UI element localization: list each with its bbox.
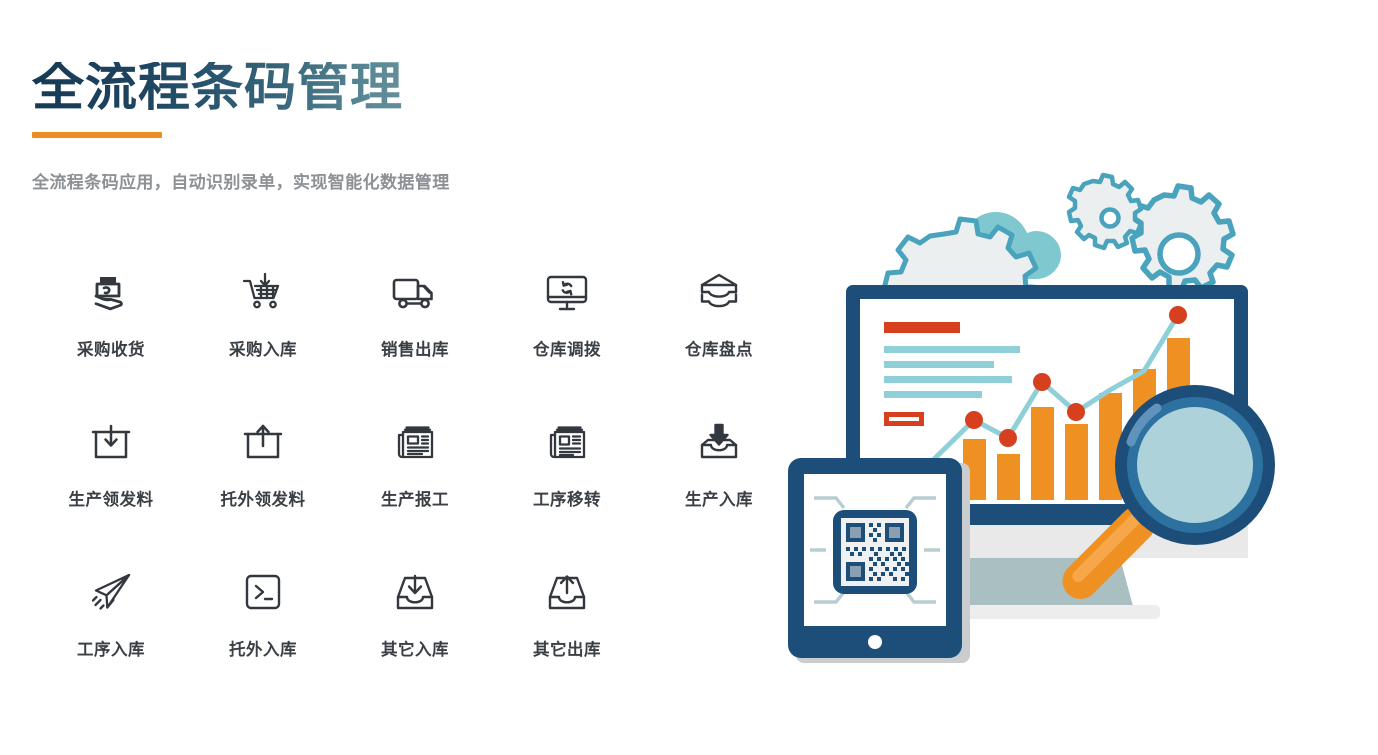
- hand-receive-box-icon: [80, 262, 142, 324]
- feature-label: 采购入库: [229, 336, 297, 360]
- title-underline-rule: [32, 132, 162, 138]
- feature-item-production-inbound[interactable]: 生产入库: [643, 412, 795, 562]
- page-subtitle: 全流程条码应用，自动识别录单，实现智能化数据管理: [32, 168, 450, 193]
- heading-block: 全流程条码管理 全流程条码应用，自动识别录单，实现智能化数据管理: [32, 62, 450, 193]
- cart-download-icon: [232, 262, 294, 324]
- gear-small-hole: [1102, 210, 1119, 227]
- feature-label: 工序入库: [77, 636, 145, 660]
- feature-label: 生产领发料: [69, 486, 154, 510]
- feature-item-process-transfer[interactable]: 工序移转: [491, 412, 643, 562]
- feature-label: 采购收货: [77, 336, 145, 360]
- page-title: 全流程条码管理: [32, 62, 450, 114]
- chart-marker: [965, 411, 983, 429]
- chart-marker: [1169, 306, 1187, 324]
- barcode-analytics-illustration: [780, 150, 1378, 680]
- feature-label: 生产报工: [381, 486, 449, 510]
- chart-bar: [1065, 424, 1088, 500]
- screen-button-label: [889, 417, 919, 421]
- newspaper-transfer-icon: [536, 412, 598, 474]
- feature-item-process-inbound[interactable]: 工序入库: [35, 562, 187, 712]
- chart-marker: [999, 429, 1017, 447]
- monitor-transfer-icon: [536, 262, 598, 324]
- feature-item-warehouse-stocktake[interactable]: 仓库盘点: [643, 262, 795, 412]
- feature-label: 其它出库: [533, 636, 601, 660]
- chart-bar: [1031, 407, 1054, 500]
- magnifier-lens: [1137, 407, 1253, 523]
- screen-text-line: [884, 376, 1012, 383]
- feature-label: 仓库盘点: [685, 336, 753, 360]
- tablet-device: [788, 458, 970, 663]
- feature-item-purchase-receipt[interactable]: 采购收货: [35, 262, 187, 412]
- feature-item-purchase-inbound[interactable]: 采购入库: [187, 262, 339, 412]
- feature-item-sales-outbound[interactable]: 销售出库: [339, 262, 491, 412]
- gear-medium-hole: [1160, 235, 1198, 273]
- feature-label: 工序移转: [533, 486, 601, 510]
- inbox-arrow-down-icon: [384, 562, 446, 624]
- feature-item-other-outbound[interactable]: 其它出库: [491, 562, 643, 712]
- chart-bar: [997, 454, 1020, 500]
- inbox-arrow-up-icon: [536, 562, 598, 624]
- stacked-trays-icon: [688, 262, 750, 324]
- feature-label: 托外入库: [229, 636, 297, 660]
- tablet-home-button: [868, 635, 882, 649]
- chart-marker: [1033, 373, 1051, 391]
- feature-label: 仓库调拨: [533, 336, 601, 360]
- feature-icon-grid: 采购收货 采购入库: [35, 262, 795, 712]
- feature-item-production-report[interactable]: 生产报工: [339, 412, 491, 562]
- feature-label: 其它入库: [381, 636, 449, 660]
- paper-plane-icon: [80, 562, 142, 624]
- feature-label: 生产入库: [685, 486, 753, 510]
- terminal-prompt-icon: [232, 562, 294, 624]
- hero-banner: 全流程条码管理 全流程条码应用，自动识别录单，实现智能化数据管理 采购收货: [0, 0, 1378, 755]
- feature-item-outsourced-issue[interactable]: 托外领发料: [187, 412, 339, 562]
- screen-header-bar: [884, 322, 960, 333]
- feature-label: 托外领发料: [221, 486, 306, 510]
- box-arrow-down-icon: [80, 412, 142, 474]
- feature-item-production-issue[interactable]: 生产领发料: [35, 412, 187, 562]
- screen-text-line: [884, 391, 982, 398]
- tray-arrow-down-icon: [688, 412, 750, 474]
- feature-item-warehouse-transfer[interactable]: 仓库调拨: [491, 262, 643, 412]
- chart-marker: [1067, 403, 1085, 421]
- feature-label: 销售出库: [381, 336, 449, 360]
- box-arrow-up-icon: [232, 412, 294, 474]
- feature-item-outsourced-inbound[interactable]: 托外入库: [187, 562, 339, 712]
- screen-text-line: [884, 361, 994, 368]
- feature-item-other-inbound[interactable]: 其它入库: [339, 562, 491, 712]
- delivery-truck-icon: [384, 262, 446, 324]
- screen-text-line: [884, 346, 1020, 353]
- qr-code: [833, 510, 917, 594]
- newspaper-report-icon: [384, 412, 446, 474]
